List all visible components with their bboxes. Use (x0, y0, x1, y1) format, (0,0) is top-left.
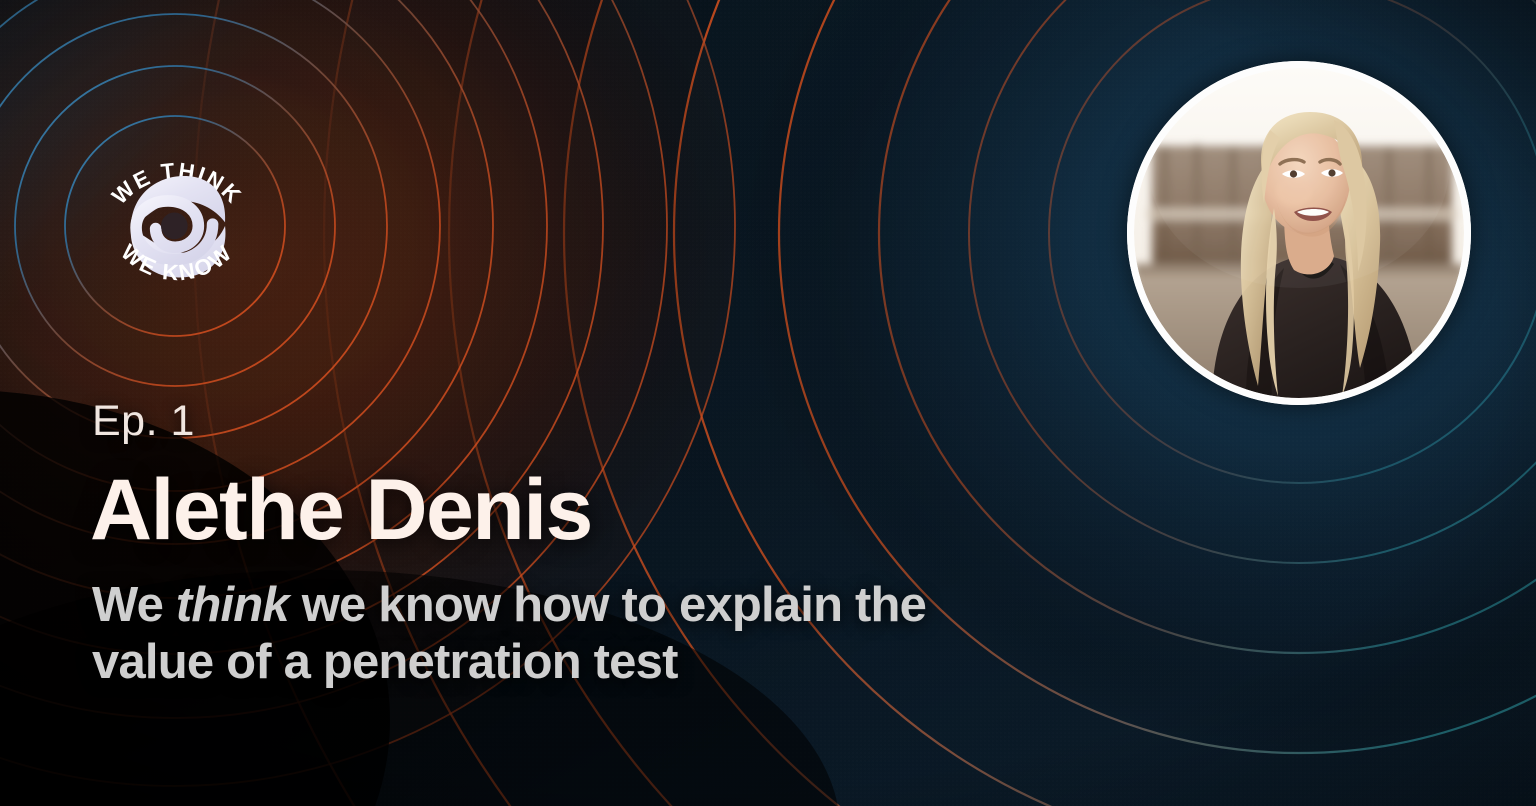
guest-portrait (1127, 61, 1471, 405)
episode-text-block: Ep. 1 Alethe Denis We think we know how … (90, 400, 1090, 691)
guest-name-heading: Alethe Denis (90, 467, 1090, 555)
brand-logo-badge: WE THINK WE KNOW (88, 134, 266, 316)
portrait-image (1134, 68, 1464, 398)
episode-title: We think we know how to explain the valu… (92, 577, 1022, 692)
episode-number-label: Ep. 1 (92, 400, 1090, 443)
episode-title-prefix: We (92, 578, 176, 632)
podcast-episode-card: WE THINK WE KNOW (0, 0, 1536, 806)
episode-title-emphasis: think (176, 578, 289, 632)
